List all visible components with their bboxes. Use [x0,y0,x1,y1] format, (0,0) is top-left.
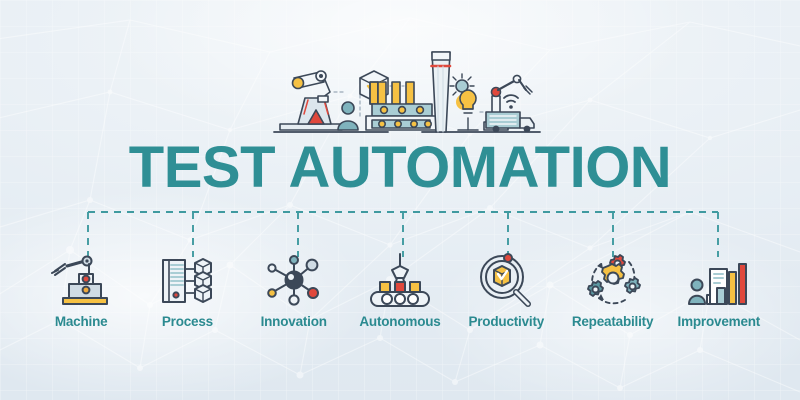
feature-node-machine[interactable]: Machine [28,252,134,329]
feature-label: Autonomous [359,314,440,329]
feature-node-improvement[interactable]: Improvement [666,252,772,329]
robotic-arm-icon [48,252,114,308]
feature-node-productivity[interactable]: Productivity [453,252,559,329]
feature-label: Repeatability [572,314,653,329]
person-bar-chart-icon [686,252,752,308]
conveyor-belt-icon [367,252,433,308]
gears-cycle-icon [580,252,646,308]
feature-label: Improvement [678,314,761,329]
feature-node-process[interactable]: Process [134,252,240,329]
feature-label: Machine [55,314,108,329]
feature-label: Productivity [468,314,544,329]
dashed-connector [0,205,800,257]
magnifier-checked-box-icon [473,252,539,308]
test-automation-banner: TEST AUTOMATION [0,0,800,400]
server-rack-icon [154,252,220,308]
feature-node-autonomous[interactable]: Autonomous [347,252,453,329]
feature-label: Innovation [261,314,327,329]
feature-node-repeatability[interactable]: Repeatability [559,252,665,329]
network-nodes-icon [261,252,327,308]
feature-label: Process [162,314,213,329]
feature-node-row: Machine [28,252,772,348]
page-title: TEST AUTOMATION [0,139,800,197]
feature-node-innovation[interactable]: Innovation [241,252,347,329]
hero-illustration [272,42,542,140]
